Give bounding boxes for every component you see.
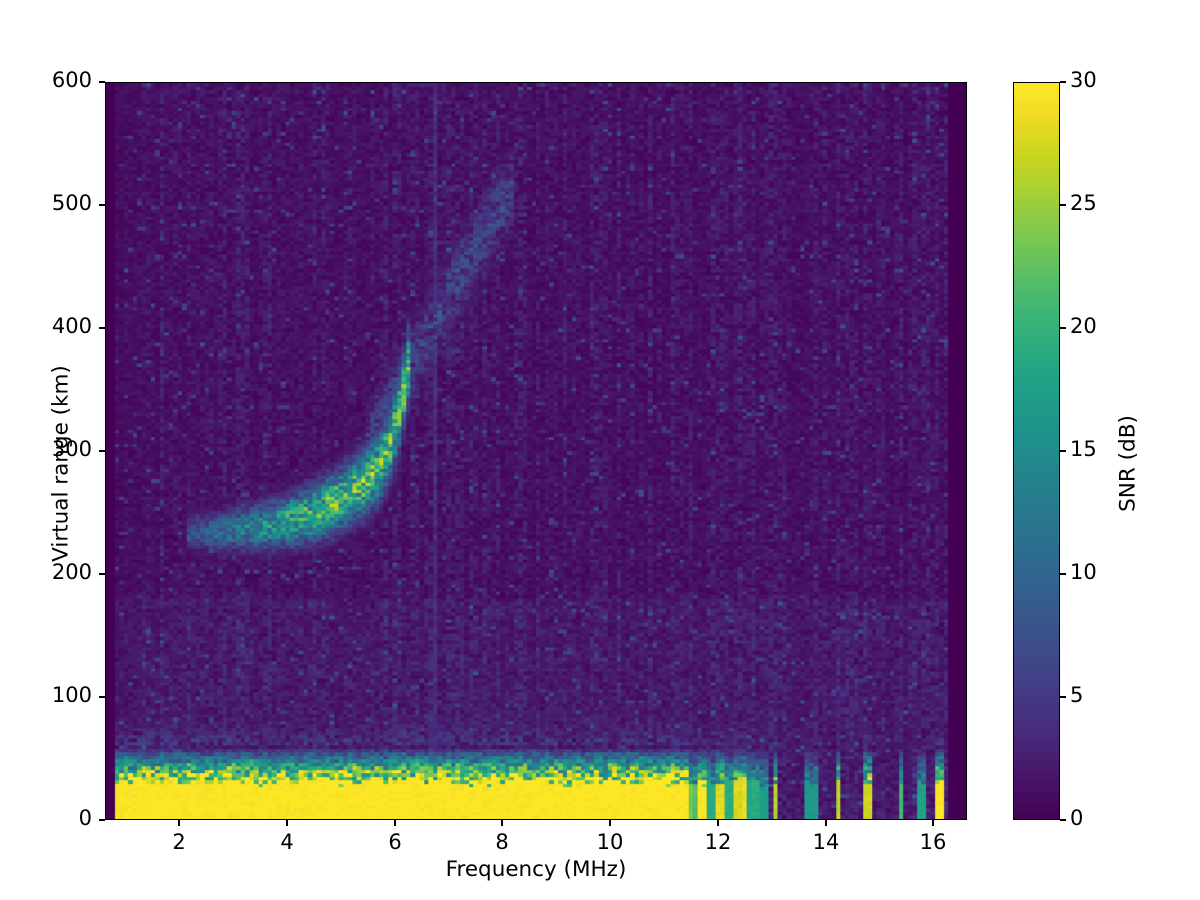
y-tick-mark (99, 450, 105, 452)
colorbar-tick-label: 20 (1070, 314, 1097, 338)
y-tick-label: 100 (0, 683, 92, 707)
x-tick-label: 2 (139, 830, 219, 854)
y-tick-label: 400 (0, 314, 92, 338)
colorbar-tick-label: 10 (1070, 560, 1097, 584)
colorbar (1013, 82, 1060, 820)
ionogram-figure: IRF Kiruna Ionosonde KI167 2025-10-25 17… (0, 0, 1200, 900)
colorbar-gradient (1014, 83, 1059, 819)
colorbar-tick-mark (1060, 327, 1066, 329)
colorbar-tick-mark (1060, 204, 1066, 206)
y-tick-label: 200 (0, 560, 92, 584)
x-tick-label: 4 (247, 830, 327, 854)
colorbar-tick-mark (1060, 450, 1066, 452)
colorbar-tick-mark (1060, 819, 1066, 821)
x-tick-label: 12 (678, 830, 758, 854)
y-tick-mark (99, 573, 105, 575)
ionogram-plot-area (105, 82, 967, 820)
y-tick-label: 0 (0, 806, 92, 830)
y-axis-label: Virtual range (km) (49, 359, 74, 569)
colorbar-tick-mark (1060, 573, 1066, 575)
y-tick-label: 600 (0, 68, 92, 92)
x-axis-label: Frequency (MHz) (105, 857, 967, 882)
x-tick-mark (178, 820, 180, 826)
y-tick-mark (99, 819, 105, 821)
y-tick-label: 300 (0, 437, 92, 461)
x-tick-mark (286, 820, 288, 826)
y-tick-mark (99, 327, 105, 329)
colorbar-label: SNR (dB) (1116, 354, 1141, 574)
colorbar-tick-label: 30 (1070, 68, 1097, 92)
y-tick-label: 500 (0, 191, 92, 215)
x-tick-mark (825, 820, 827, 826)
x-tick-label: 16 (893, 830, 973, 854)
y-tick-mark (99, 204, 105, 206)
x-tick-mark (717, 820, 719, 826)
colorbar-tick-label: 25 (1070, 191, 1097, 215)
colorbar-tick-label: 0 (1070, 806, 1083, 830)
colorbar-tick-mark (1060, 81, 1066, 83)
ionogram-heatmap-canvas (106, 83, 966, 819)
x-tick-mark (932, 820, 934, 826)
y-tick-mark (99, 696, 105, 698)
x-tick-label: 8 (462, 830, 542, 854)
x-tick-mark (501, 820, 503, 826)
x-tick-mark (609, 820, 611, 826)
colorbar-tick-label: 5 (1070, 683, 1083, 707)
x-tick-label: 10 (570, 830, 650, 854)
colorbar-tick-mark (1060, 696, 1066, 698)
x-tick-label: 14 (786, 830, 866, 854)
x-tick-mark (394, 820, 396, 826)
colorbar-tick-label: 15 (1070, 437, 1097, 461)
y-tick-mark (99, 81, 105, 83)
x-tick-label: 6 (355, 830, 435, 854)
